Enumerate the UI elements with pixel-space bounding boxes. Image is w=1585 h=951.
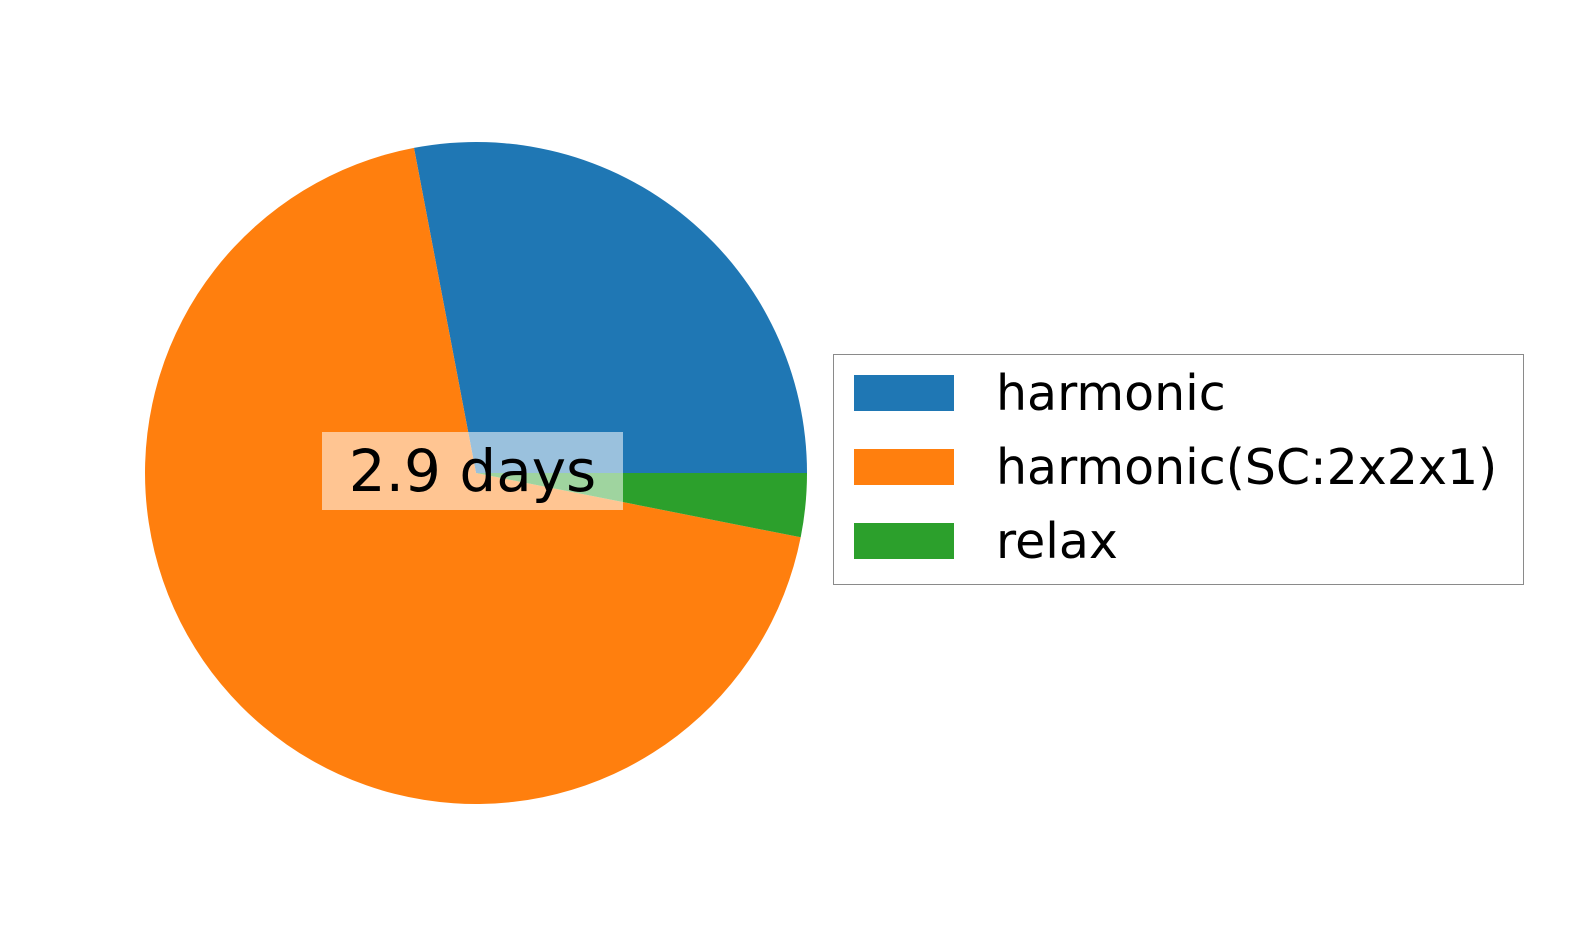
legend-swatch-harmonic	[854, 375, 954, 411]
pie-chart-figure: 2.9 days harmonic harmonic(SC:2x2x1) rel…	[0, 0, 1585, 951]
legend-swatch-harmonic-sc	[854, 449, 954, 485]
center-annotation-label: 2.9 days	[322, 432, 623, 510]
pie-slice	[414, 142, 807, 473]
legend-label-relax: relax	[996, 509, 1118, 573]
legend-label-harmonic-sc: harmonic(SC:2x2x1)	[996, 435, 1497, 499]
chart-legend: harmonic harmonic(SC:2x2x1) relax	[833, 354, 1524, 585]
legend-swatch-relax	[854, 523, 954, 559]
legend-label-harmonic: harmonic	[996, 361, 1226, 425]
